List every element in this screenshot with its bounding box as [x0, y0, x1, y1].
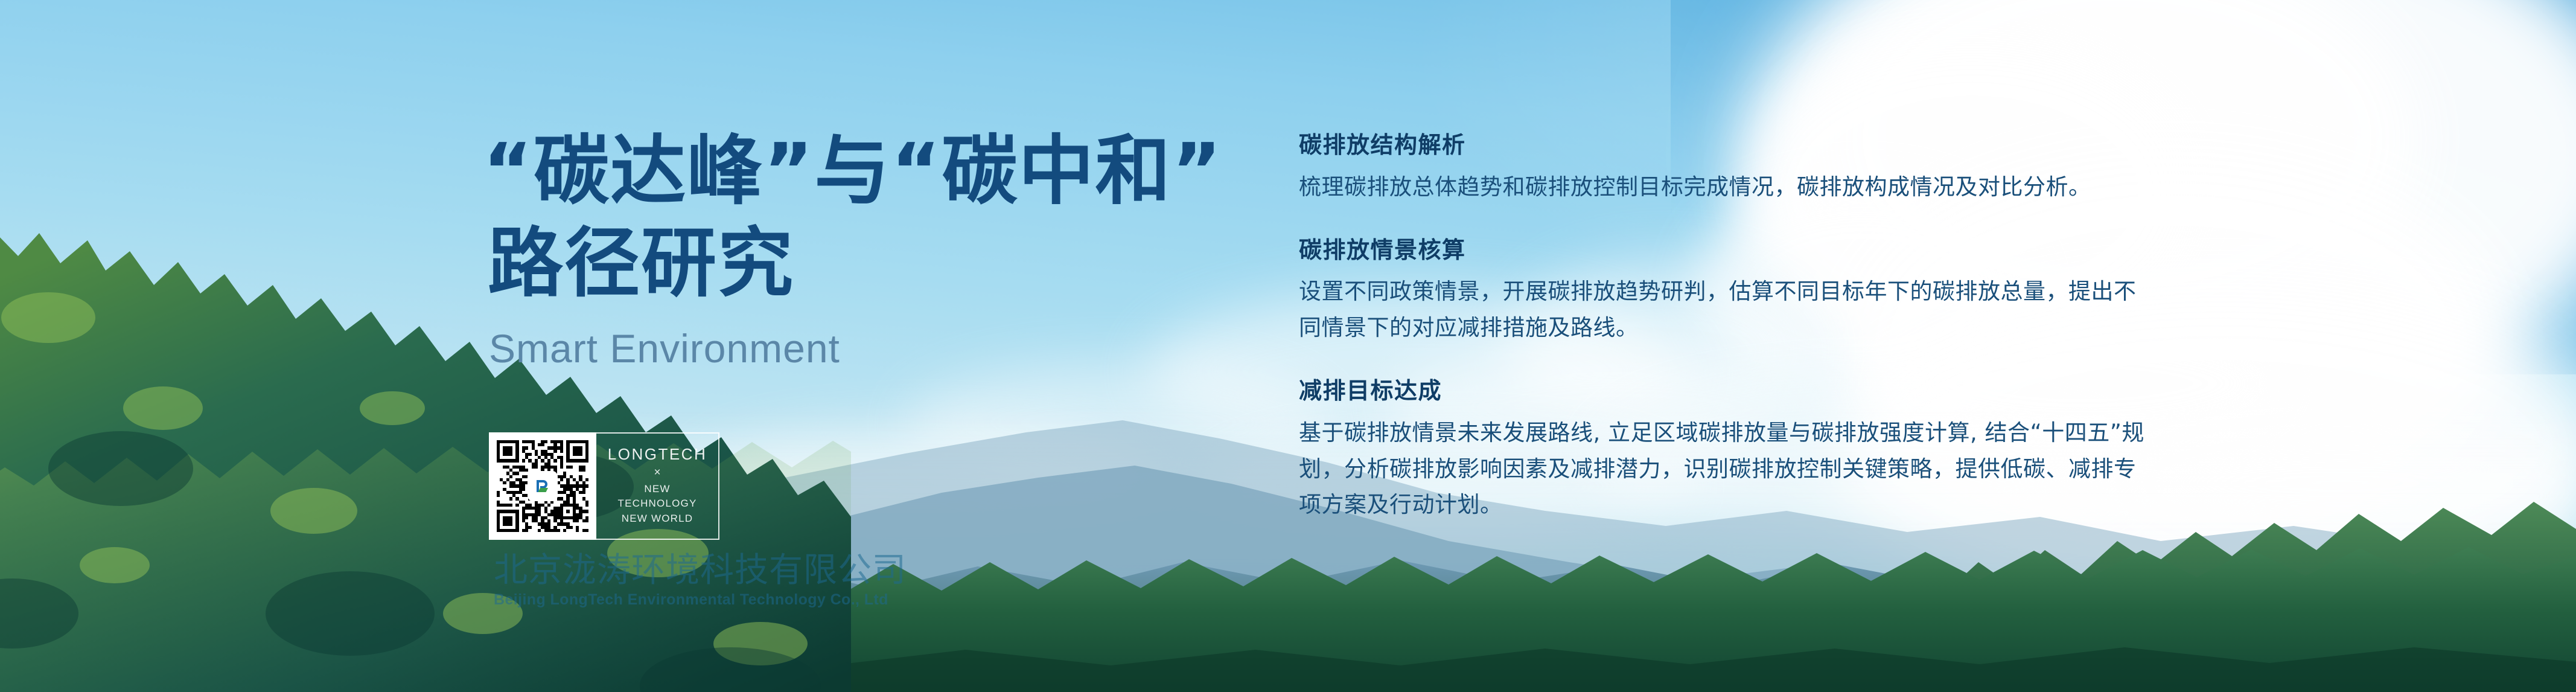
- qr-code-panel[interactable]: [489, 432, 596, 540]
- feature-sections: 碳排放结构解析 梳理碳排放总体趋势和碳排放控制目标完成情况，碳排放构成情况及对比…: [1299, 132, 2156, 523]
- qr-code-image[interactable]: [497, 440, 588, 532]
- title-block: “碳达峰”与“碳中和” 路径研究 Smart Environment: [483, 126, 1207, 371]
- qr-tagline-line-1: NEW: [644, 482, 670, 495]
- section-body: 基于碳排放情景未来发展路线, 立足区域碳排放量与碳排放强度计算, 结合“十四五”…: [1299, 415, 2156, 524]
- feature-section: 碳排放情景核算 设置不同政策情景，开展碳排放趋势研判，估算不同目标年下的碳排放总…: [1299, 237, 2156, 346]
- page-title-line-1: “碳达峰”与“碳中和”: [483, 126, 1207, 218]
- qr-brand-panel: LONGTECH × NEW TECHNOLOGY NEW WORLD: [596, 432, 719, 540]
- section-heading: 碳排放结构解析: [1299, 132, 2156, 159]
- qr-promo-card[interactable]: LONGTECH × NEW TECHNOLOGY NEW WORLD: [489, 432, 719, 540]
- page-subtitle: Smart Environment: [483, 325, 1207, 371]
- qr-brand-name: LONGTECH: [608, 446, 707, 462]
- qr-separator-icon: ×: [654, 467, 660, 478]
- qr-tagline-line-3: NEW WORLD: [622, 512, 693, 525]
- page-title-line-2: 路径研究: [483, 218, 1207, 310]
- feature-section: 减排目标达成 基于碳排放情景未来发展路线, 立足区域碳排放量与碳排放强度计算, …: [1299, 377, 2156, 523]
- qr-center-logo-icon: [529, 472, 556, 500]
- section-body: 设置不同政策情景，开展碳排放趋势研判，估算不同目标年下的碳排放总量，提出不同情景…: [1299, 274, 2156, 346]
- section-heading: 减排目标达成: [1299, 377, 2156, 405]
- feature-section: 碳排放结构解析 梳理碳排放总体趋势和碳排放控制目标完成情况，碳排放构成情况及对比…: [1299, 132, 2156, 205]
- hero-banner: “碳达峰”与“碳中和” 路径研究 Smart Environment LONGT…: [0, 0, 2576, 692]
- section-heading: 碳排放情景核算: [1299, 237, 2156, 264]
- qr-tagline-line-2: TECHNOLOGY: [617, 497, 697, 510]
- section-body: 梳理碳排放总体趋势和碳排放控制目标完成情况，碳排放构成情况及对比分析。: [1299, 169, 2156, 205]
